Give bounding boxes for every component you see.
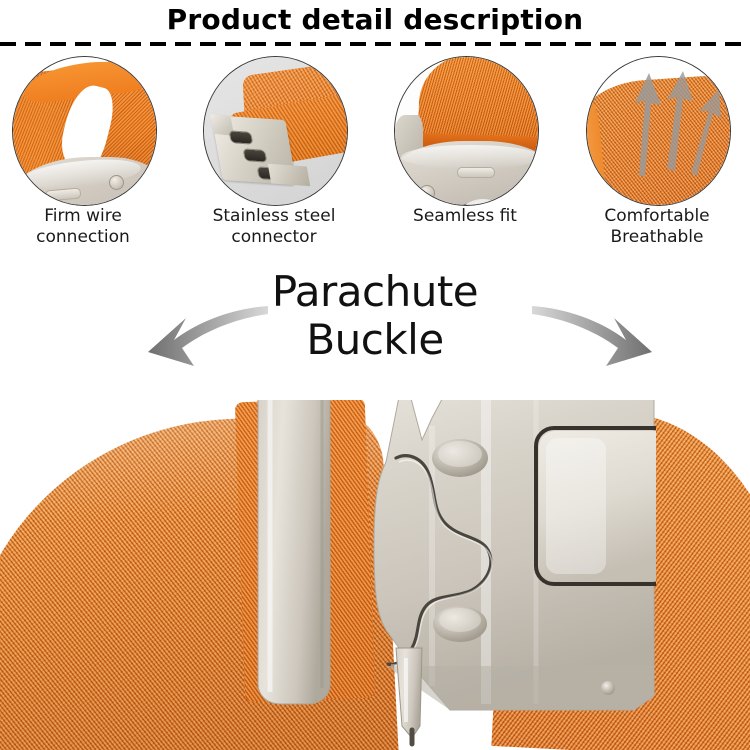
feature-row: Firm wire connection Stainless steel con…	[0, 56, 750, 246]
feature-image-seamless-fit	[394, 56, 539, 206]
arrow-left-icon	[140, 296, 270, 372]
feature-caption: Comfortable Breathable	[563, 206, 750, 248]
connector-slot	[243, 148, 268, 162]
feature-item-stainless-steel-connector: Stainless steel connector	[180, 56, 368, 246]
connector-slot	[229, 130, 254, 144]
parachute-buckle	[236, 400, 656, 750]
airflow-arrows-icon	[587, 57, 730, 205]
header-divider	[0, 42, 750, 46]
feature-item-firm-wire-connection: Firm wire connection	[0, 56, 177, 246]
case-screw-icon	[419, 185, 435, 201]
feature-image-stainless-steel-connector	[203, 56, 348, 206]
product-detail-page: Product detail description	[0, 0, 750, 750]
feature-image-comfortable-breathable	[586, 56, 731, 206]
feature-caption: Firm wire connection	[0, 206, 177, 248]
case-slot	[457, 167, 495, 178]
buckle-screw-icon	[601, 681, 615, 695]
feature-caption: Stainless steel connector	[180, 206, 368, 248]
case-highlight	[401, 145, 538, 169]
feature-item-comfortable-breathable: Comfortable Breathable	[563, 56, 750, 246]
case-screw-icon	[511, 185, 527, 201]
connector-tail	[268, 164, 311, 186]
buckle-prong	[396, 648, 422, 744]
case-screw-icon	[109, 175, 124, 190]
feature-caption: Seamless fit	[371, 206, 559, 227]
feature-image-firm-wire-connection	[12, 56, 157, 206]
buckle-keeper-tab	[258, 400, 330, 704]
feature-item-seamless-fit: Seamless fit	[371, 56, 559, 246]
hero-product-image	[0, 400, 750, 750]
page-title: Product detail description	[0, 2, 750, 38]
arrow-right-icon	[530, 296, 660, 372]
